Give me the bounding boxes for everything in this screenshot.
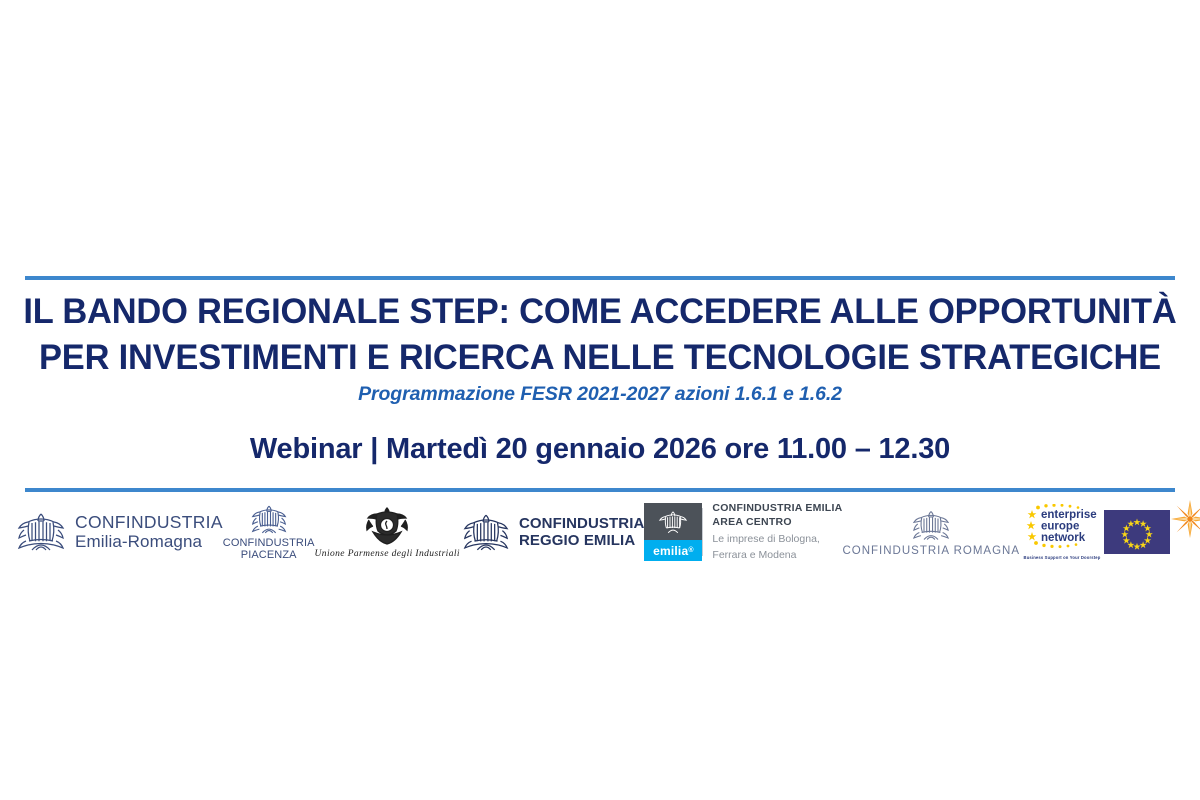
logo-enterprise-europe-network: enterprise europe network Business Suppo…	[1020, 496, 1104, 568]
logo-text-line-2: AREA CENTRO	[712, 516, 842, 530]
logo-text-line-2: Emilia-Romagna	[75, 532, 223, 551]
svg-text:europe: europe	[1041, 521, 1079, 533]
confindustria-eagle-crest-icon	[14, 510, 68, 554]
logo-text-line-2: PIACENZA	[223, 549, 315, 561]
star-arc-icon: enterprise europe network	[1020, 504, 1104, 554]
title-line-2: PER INVESTIMENTI E RICERCA NELLE TECNOLO…	[18, 334, 1182, 380]
logo-confindustria-romagna: CONFINDUSTRIA ROMAGNA	[842, 496, 1020, 568]
logo-text-line-1: CONFINDUSTRIA	[75, 513, 223, 533]
logo-confindustria-emilia-area-centro: CONFINDUSTRIA EMILIA AREA CENTRO Le impr…	[702, 496, 842, 568]
logo-emilia: emilia®	[644, 496, 702, 568]
divider-rule-bottom	[25, 488, 1175, 492]
divider-rule-top	[25, 276, 1175, 280]
logo-confindustria-emilia-romagna: CONFINDUSTRIA Emilia-Romagna	[14, 496, 223, 568]
svg-text:enterprise: enterprise	[1041, 509, 1097, 521]
confindustria-eagle-crest-icon	[910, 508, 952, 543]
confindustria-eagle-crest-icon	[249, 503, 289, 536]
logo-confindustria-piacenza: CONFINDUSTRIA PIACENZA	[223, 496, 315, 568]
logo-text-line-2: REGGIO EMILIA	[519, 532, 644, 549]
logo-text-line-3: Le imprese di Bologna,	[712, 532, 842, 546]
emilia-logo-box: emilia®	[644, 503, 702, 561]
logo-simpler: simpler Servizi per l'internazionalizzaz…	[1170, 496, 1200, 568]
logo-confindustria-reggio-emilia: CONFINDUSTRIA REGGIO EMILIA	[460, 496, 644, 568]
eu-flag-icon	[1104, 510, 1170, 554]
emilia-eagle-icon	[644, 503, 702, 540]
logo-script-text: Unione Parmense degli Industriali	[315, 549, 460, 559]
svg-text:network: network	[1041, 532, 1086, 544]
logo-text-line-1: CONFINDUSTRIA	[223, 537, 315, 549]
een-tagline: Business Support on Your Doorstep	[1024, 555, 1101, 560]
logo-text-line-1: CONFINDUSTRIA ROMAGNA	[842, 545, 1020, 557]
logo-text-line-1: CONFINDUSTRIA EMILIA	[712, 502, 842, 516]
logo-unione-parmense-industriali: Unione Parmense degli Industriali	[315, 496, 460, 568]
title-line-1: IL BANDO REGIONALE STEP: COME ACCEDERE A…	[18, 288, 1182, 334]
unione-parmense-crest-icon	[365, 506, 409, 546]
page-title: IL BANDO REGIONALE STEP: COME ACCEDERE A…	[0, 288, 1200, 380]
logo-text-line-1: CONFINDUSTRIA	[519, 515, 644, 532]
confindustria-eagle-crest-icon	[460, 511, 512, 554]
vertical-divider	[702, 508, 703, 556]
emilia-wordmark: emilia®	[644, 540, 702, 561]
partner-logo-strip: CONFINDUSTRIA Emilia-Romagna CONFI	[14, 496, 1186, 568]
event-datetime-line: Webinar | Martedì 20 gennaio 2026 ore 11…	[0, 433, 1200, 466]
logo-text-line-4: Ferrara e Modena	[712, 548, 842, 562]
logo-european-union-flag	[1104, 496, 1170, 568]
programme-subtitle: Programmazione FESR 2021-2027 azioni 1.6…	[0, 383, 1200, 406]
starburst-icon	[1170, 499, 1200, 539]
webinar-announcement-banner: IL BANDO REGIONALE STEP: COME ACCEDERE A…	[0, 0, 1200, 800]
